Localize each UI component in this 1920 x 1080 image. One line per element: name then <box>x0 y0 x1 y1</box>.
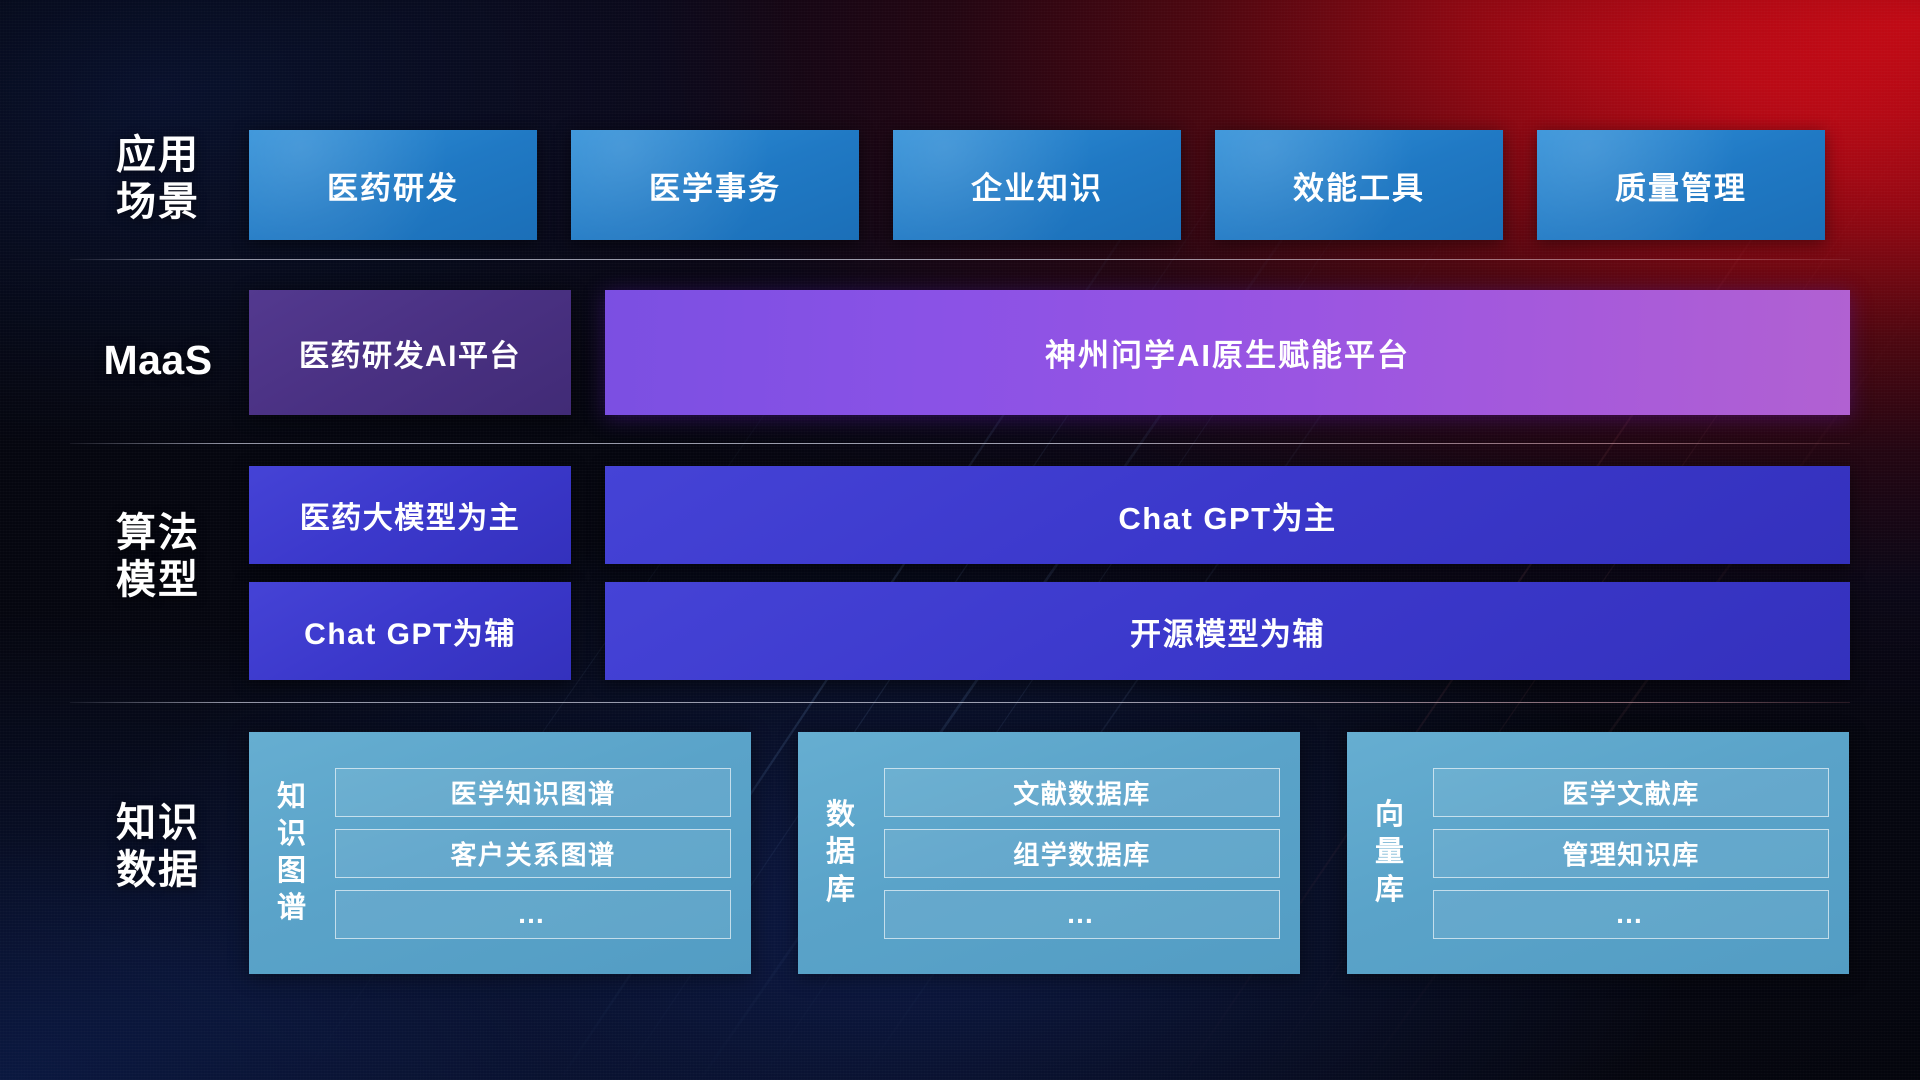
tier-label-knowledge-data: 知识 数据 <box>78 800 238 894</box>
vlabel-char: 图 <box>277 853 307 890</box>
divider-after-application-scenarios <box>70 259 1850 260</box>
knowledge-item[interactable]: 文献数据库 <box>884 768 1280 817</box>
app-box-qiye-zhishi[interactable]: 企业知识 <box>893 130 1181 240</box>
tier-label-application-scenarios: 应用 场景 <box>78 132 238 226</box>
app-box-label: 效能工具 <box>1293 163 1425 208</box>
maas-box-yiyao-yanfa-ai-platform[interactable]: 医药研发AI平台 <box>249 290 571 415</box>
algo-box-label: Chat GPT为主 <box>1118 493 1336 538</box>
app-box-label: 企业知识 <box>971 163 1103 208</box>
tier-label-line: 应用 <box>78 132 238 179</box>
knowledge-item[interactable]: 组学数据库 <box>884 829 1280 878</box>
tier-label-algorithm-model: 算法 模型 <box>78 510 238 604</box>
vlabel-char: 识 <box>277 816 307 853</box>
algo-box-opensource-secondary[interactable]: 开源模型为辅 <box>605 582 1850 680</box>
knowledge-item-label: 管理知识库 <box>1562 835 1700 872</box>
vlabel-char: 向 <box>1375 797 1405 834</box>
maas-row: 医药研发AI平台 神州问学AI原生赋能平台 <box>249 290 1850 415</box>
knowledge-item-more[interactable]: … <box>1433 890 1829 939</box>
algo-box-label: Chat GPT为辅 <box>304 609 516 653</box>
algo-box-yiyao-large-model-primary[interactable]: 医药大模型为主 <box>249 466 571 564</box>
algorithm-row-secondary: Chat GPT为辅 开源模型为辅 <box>249 582 1850 680</box>
app-box-zhiliang-guanli[interactable]: 质量管理 <box>1537 130 1825 240</box>
maas-box-shenzhou-wenxue-platform[interactable]: 神州问学AI原生赋能平台 <box>605 290 1850 415</box>
maas-box-label: 医药研发AI平台 <box>299 331 521 375</box>
knowledge-item-label: 医学知识图谱 <box>450 774 615 811</box>
knowledge-item[interactable]: 客户关系图谱 <box>335 829 731 878</box>
knowledge-item-list: 医学知识图谱 客户关系图谱 … <box>335 768 731 939</box>
knowledge-item-label: … <box>1615 898 1647 930</box>
application-scenario-row: 医药研发 医学事务 企业知识 效能工具 质量管理 <box>249 130 1850 240</box>
algo-box-label: 开源模型为辅 <box>1130 609 1325 654</box>
knowledge-group-database[interactable]: 数 据 库 文献数据库 组学数据库 … <box>798 732 1300 974</box>
divider-after-maas <box>70 443 1850 444</box>
app-box-label: 质量管理 <box>1615 163 1747 208</box>
knowledge-item-label: 医学文献库 <box>1562 774 1700 811</box>
knowledge-data-row: 知 识 图 谱 医学知识图谱 客户关系图谱 … 数 据 <box>249 732 1850 974</box>
knowledge-item-label: 文献数据库 <box>1013 774 1151 811</box>
knowledge-item-label: 组学数据库 <box>1013 835 1151 872</box>
architecture-diagram: 应用 场景 医药研发 医学事务 企业知识 效能工具 质量管理 MaaS 医药研发… <box>0 0 1920 1080</box>
divider-after-algorithm-model <box>70 702 1850 703</box>
tier-label-line: 场景 <box>78 179 238 226</box>
tier-label-line: 知识 <box>78 800 238 847</box>
vlabel-char: 知 <box>277 779 307 816</box>
knowledge-item-label: 客户关系图谱 <box>450 835 615 872</box>
knowledge-item-more[interactable]: … <box>335 890 731 939</box>
knowledge-group-label-knowledge-graph: 知 识 图 谱 <box>249 779 335 927</box>
algorithm-row-primary: 医药大模型为主 Chat GPT为主 <box>249 466 1850 564</box>
algo-box-chatgpt-secondary[interactable]: Chat GPT为辅 <box>249 582 571 680</box>
vlabel-char: 库 <box>826 872 856 909</box>
knowledge-item-label: … <box>1066 898 1098 930</box>
knowledge-item-label: … <box>517 898 549 930</box>
tier-label-line: 数据 <box>78 847 238 894</box>
knowledge-item-more[interactable]: … <box>884 890 1280 939</box>
tier-label-line: 算法 <box>78 510 238 557</box>
algo-box-chatgpt-primary[interactable]: Chat GPT为主 <box>605 466 1850 564</box>
app-box-xiaoneng-gongju[interactable]: 效能工具 <box>1215 130 1503 240</box>
knowledge-group-knowledge-graph[interactable]: 知 识 图 谱 医学知识图谱 客户关系图谱 … <box>249 732 751 974</box>
knowledge-item[interactable]: 医学知识图谱 <box>335 768 731 817</box>
vlabel-char: 据 <box>826 834 856 871</box>
knowledge-group-label-vector-store: 向 量 库 <box>1347 797 1433 908</box>
knowledge-item-list: 医学文献库 管理知识库 … <box>1433 768 1829 939</box>
vlabel-char: 库 <box>1375 872 1405 909</box>
app-box-yiyao-yanfa[interactable]: 医药研发 <box>249 130 537 240</box>
algo-box-label: 医药大模型为主 <box>300 493 521 537</box>
app-box-yixue-shiwu[interactable]: 医学事务 <box>571 130 859 240</box>
tier-label-maas: MaaS <box>78 336 238 384</box>
knowledge-group-label-database: 数 据 库 <box>798 797 884 908</box>
knowledge-group-vector-store[interactable]: 向 量 库 医学文献库 管理知识库 … <box>1347 732 1849 974</box>
knowledge-item[interactable]: 管理知识库 <box>1433 829 1829 878</box>
vlabel-char: 数 <box>826 797 856 834</box>
knowledge-item[interactable]: 医学文献库 <box>1433 768 1829 817</box>
knowledge-item-list: 文献数据库 组学数据库 … <box>884 768 1280 939</box>
app-box-label: 医学事务 <box>649 163 781 208</box>
tier-label-line: 模型 <box>78 557 238 604</box>
app-box-label: 医药研发 <box>327 163 459 208</box>
vlabel-char: 谱 <box>277 890 307 927</box>
vlabel-char: 量 <box>1375 834 1405 871</box>
tier-label-line: MaaS <box>78 336 238 384</box>
maas-box-label: 神州问学AI原生赋能平台 <box>1045 330 1410 375</box>
